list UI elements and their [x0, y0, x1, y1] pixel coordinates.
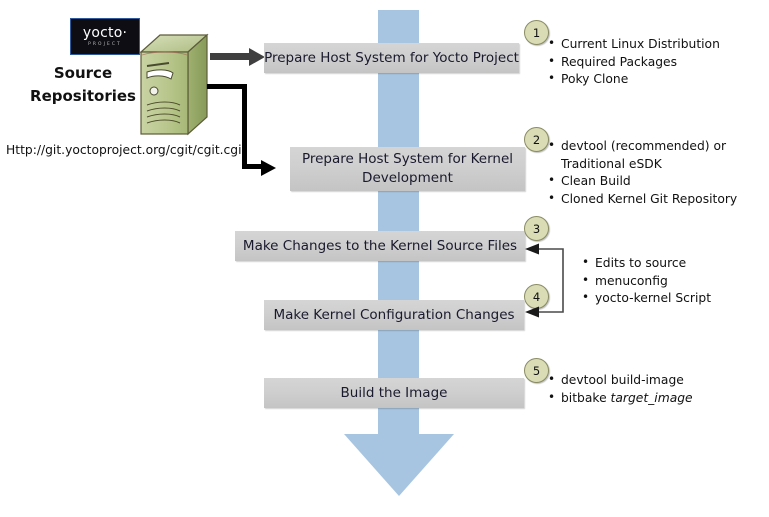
- bullets-steps3-4-shared: Edits to source menuconfig yocto-kernel …: [582, 255, 762, 308]
- list-item: Current Linux Distribution: [548, 36, 763, 54]
- yocto-logo-subtitle: PROJECT: [88, 41, 122, 48]
- flow-band: [378, 10, 419, 435]
- process-box-step4[interactable]: Make Kernel Configuration Changes: [264, 300, 524, 330]
- list-item: Edits to source: [582, 255, 762, 273]
- connector-source-to-step1: [210, 53, 252, 60]
- step-number-5: 5: [524, 358, 549, 383]
- source-repositories-title: Source Repositories: [22, 62, 144, 108]
- bitbake-target-image-token: target_image: [611, 391, 693, 405]
- connector-source-to-step2-segment-vertical: [242, 84, 247, 169]
- connector-source-to-step1-arrowhead-icon: [249, 48, 265, 66]
- flow-arrowhead-icon: [344, 434, 454, 496]
- list-item: Cloned Kernel Git Repository: [548, 191, 763, 209]
- list-item: yocto-kernel Script: [582, 290, 762, 308]
- server-tower-icon: [138, 33, 210, 138]
- process-box-step2[interactable]: Prepare Host System for Kernel Developme…: [290, 147, 525, 191]
- diagram-canvas: yocto· PROJECT Source Repositories Http:…: [0, 0, 769, 517]
- bullets-step1: Current Linux Distribution Required Pack…: [548, 36, 763, 89]
- list-item: bitbake target_image: [548, 390, 763, 408]
- connector-source-to-step2-arrowhead-icon: [261, 160, 276, 176]
- step-number-2: 2: [524, 127, 549, 152]
- bitbake-command-label: bitbake: [561, 391, 611, 405]
- list-item: menuconfig: [582, 273, 762, 291]
- bullets-step5: devtool build-image bitbake target_image: [548, 372, 763, 407]
- source-title-line2: Repositories: [22, 85, 144, 108]
- step-number-1: 1: [524, 20, 549, 45]
- process-box-step5[interactable]: Build the Image: [264, 378, 524, 408]
- connector-bracket-steps3-4: [524, 243, 568, 318]
- process-box-step3[interactable]: Make Changes to the Kernel Source Files: [235, 231, 525, 261]
- list-item: Poky Clone: [548, 71, 763, 89]
- connector-source-to-step2-segment-top: [207, 84, 247, 89]
- source-title-line1: Source: [22, 62, 144, 85]
- step-number-3: 3: [524, 216, 549, 241]
- yocto-project-logo: yocto· PROJECT: [70, 18, 140, 55]
- process-box-step1[interactable]: Prepare Host System for Yocto Project: [264, 43, 519, 73]
- list-item: Required Packages: [548, 54, 763, 72]
- list-item: devtool build-image: [548, 372, 763, 390]
- yocto-logo-wordmark: yocto·: [83, 26, 127, 40]
- bullets-step2: devtool (recommended) or Traditional eSD…: [548, 138, 763, 208]
- source-repository-url: Http://git.yoctoproject.org/cgit/cgit.cg…: [6, 143, 232, 157]
- list-item: devtool (recommended) or Traditional eSD…: [548, 138, 763, 173]
- list-item: Clean Build: [548, 173, 763, 191]
